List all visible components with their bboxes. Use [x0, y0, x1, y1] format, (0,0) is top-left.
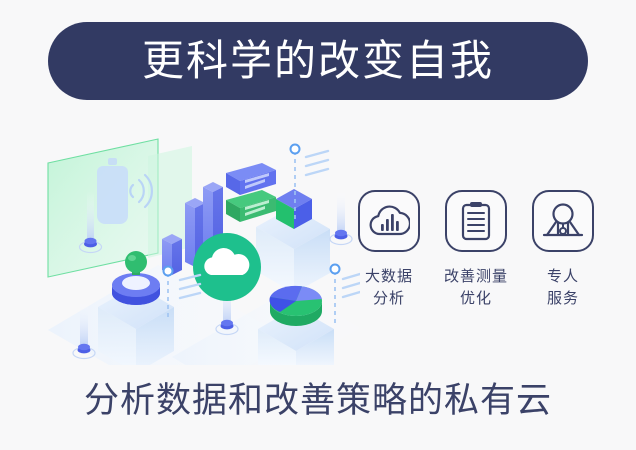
bottle-silhouette	[97, 158, 128, 224]
illustration	[40, 125, 360, 365]
cloud-bar-chart-icon	[358, 190, 420, 252]
feature-label-line2: 服务	[547, 288, 579, 310]
support-person-icon	[532, 190, 594, 252]
poster-canvas: 更科学的改变自我	[0, 0, 636, 450]
pie-chart-3d	[269, 286, 322, 326]
feature-label-big-data: 大数据 分析	[365, 266, 413, 310]
signage-plate-green	[226, 190, 276, 222]
signage-plate-blue	[226, 163, 276, 195]
feature-label-line1: 大数据	[365, 266, 413, 288]
page-title: 更科学的改变自我	[142, 40, 494, 82]
feature-label-service: 专人 服务	[547, 266, 579, 310]
clipboard-icon	[445, 190, 507, 252]
map-pin-marker	[330, 189, 352, 245]
feature-label-line2: 优化	[444, 288, 508, 310]
feature-label-line1: 改善测量	[444, 266, 508, 288]
feature-list: 大数据 分析 改善测量 优化	[352, 190, 600, 330]
isometric-scene-svg	[40, 125, 360, 365]
feature-item-big-data[interactable]: 大数据 分析	[352, 190, 426, 310]
feature-label-line1: 专人	[547, 266, 579, 288]
bottom-headline: 分析数据和改善策略的私有云	[0, 382, 636, 421]
feature-item-measurement[interactable]: 改善测量 优化	[439, 190, 513, 310]
title-banner: 更科学的改变自我	[48, 22, 588, 100]
feature-item-service[interactable]: 专人 服务	[526, 190, 600, 310]
feature-label-line2: 分析	[365, 288, 413, 310]
feature-label-measurement: 改善测量 优化	[444, 266, 508, 310]
